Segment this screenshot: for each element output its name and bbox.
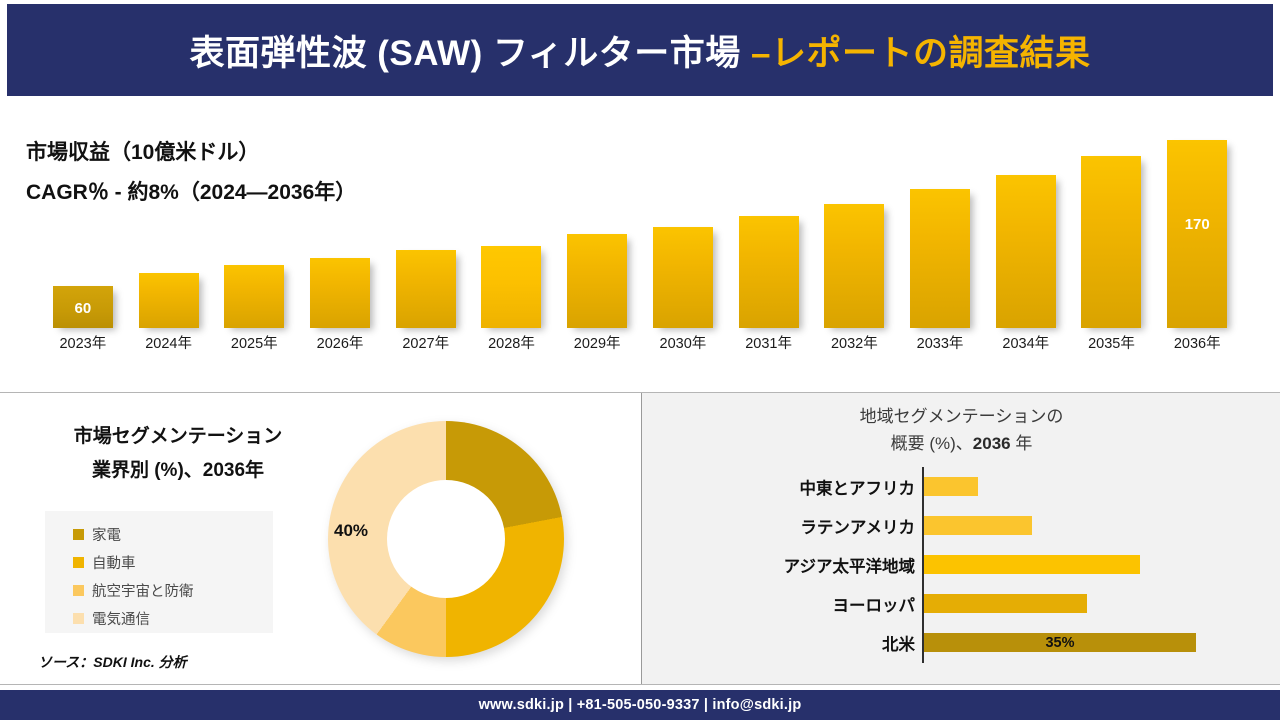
bar-2036年: 170 (1167, 140, 1227, 328)
bar-2030年 (653, 227, 713, 328)
bar-cell (983, 130, 1069, 328)
infographic-page: 表面弾性波 (SAW) フィルター市場 –レポートの調査結果 市場収益（10億米… (0, 0, 1280, 720)
legend-label: 自動車 (92, 552, 136, 573)
region-title-line2-a: 概要 (%)、 (891, 434, 973, 453)
bar-2031年 (739, 216, 799, 328)
region-label: アジア太平洋地域 (655, 553, 915, 577)
legend-swatch-icon (73, 529, 84, 540)
bar-2028年 (481, 246, 541, 328)
year-label-2034年: 2034年 (983, 332, 1069, 362)
region-row-0: 中東とアフリカ (642, 467, 1280, 506)
bar-cell (811, 130, 897, 328)
year-label-2026年: 2026年 (297, 332, 383, 362)
bar-cell: 170 (1154, 130, 1240, 328)
bar-cell (897, 130, 983, 328)
region-bar (924, 594, 1087, 613)
bar-value-label: 170 (1167, 216, 1227, 233)
header-banner: 表面弾性波 (SAW) フィルター市場 –レポートの調査結果 (7, 4, 1273, 96)
bar-cell (297, 130, 383, 328)
region-title-line2-c: 年 (1011, 434, 1033, 453)
bar-2024年 (139, 273, 199, 328)
year-label-2024年: 2024年 (126, 332, 212, 362)
year-label-2030年: 2030年 (640, 332, 726, 362)
year-label-2027年: 2027年 (383, 332, 469, 362)
bar-2033年 (910, 189, 970, 328)
bar-cell (726, 130, 812, 328)
bar-2032年 (824, 204, 884, 328)
industry-segmentation-panel: 市場セグメンテーション 業界別 (%)、2036年 家電自動車航空宇宙と防衛電気… (0, 393, 640, 684)
bar-cell (383, 130, 469, 328)
region-bar-series: 中東とアフリカラテンアメリカアジア太平洋地域ヨーロッパ北米35% (642, 467, 1280, 667)
year-label-2023年: 2023年 (40, 332, 126, 362)
source-note: ソース：SDKI Inc. 分析 (38, 652, 187, 672)
page-title-accent: –レポートの調査結果 (751, 34, 1090, 73)
legend-label: 航空宇宙と防衛 (92, 580, 194, 601)
legend-swatch-icon (73, 585, 84, 596)
bar-cell (211, 130, 297, 328)
region-chart-title: 地域セグメンテーションの 概要 (%)、2036 年 (642, 403, 1280, 457)
bar-2023年: 60 (53, 286, 113, 328)
bar-cell (554, 130, 640, 328)
footer-banner: www.sdki.jp | +81-505-050-9337 | info@sd… (0, 690, 1280, 720)
year-label-2035年: 2035年 (1069, 332, 1155, 362)
region-label: ラテンアメリカ (655, 514, 915, 538)
region-segmentation-panel: 地域セグメンテーションの 概要 (%)、2036 年 中東とアフリカラテンアメリ… (641, 393, 1280, 684)
bar-2026年 (310, 258, 370, 328)
region-row-3: ヨーロッパ (642, 584, 1280, 623)
region-title-line1: 地域セグメンテーションの (642, 403, 1280, 430)
legend-swatch-icon (73, 613, 84, 624)
legend-label: 家電 (92, 524, 121, 545)
bar-cell (640, 130, 726, 328)
page-title-main: 表面弾性波 (SAW) フィルター市場 (190, 34, 752, 73)
legend-item[interactable]: 電気通信 (73, 605, 273, 632)
region-row-2: アジア太平洋地域 (642, 545, 1280, 584)
bar-2029年 (567, 234, 627, 328)
legend-item[interactable]: 家電 (73, 521, 273, 548)
donut-hole (387, 480, 505, 598)
year-label-2031年: 2031年 (726, 332, 812, 362)
bar-category-axis: 2023年2024年2025年2026年2027年2028年2029年2030年… (40, 332, 1240, 362)
region-title-line2: 概要 (%)、2036 年 (642, 430, 1280, 457)
bar-value-label: 60 (53, 300, 113, 317)
region-bar (924, 477, 978, 496)
year-label-2025年: 2025年 (211, 332, 297, 362)
legend-item[interactable]: 航空宇宙と防衛 (73, 577, 273, 604)
region-label: 中東とアフリカ (655, 475, 915, 499)
legend-item[interactable]: 自動車 (73, 549, 273, 576)
region-bar (924, 555, 1140, 574)
donut-title-line1: 市場セグメンテーション (28, 420, 328, 454)
revenue-bar-chart: 60170 2023年2024年2025年2026年2027年2028年2029… (40, 130, 1240, 370)
region-bar (924, 516, 1032, 535)
page-title: 表面弾性波 (SAW) フィルター市場 –レポートの調査結果 (190, 25, 1091, 76)
legend-label: 電気通信 (92, 608, 150, 629)
bar-cell (1069, 130, 1155, 328)
donut-title-line2: 業界別 (%)、2036年 (28, 454, 328, 488)
bar-cell: 60 (40, 130, 126, 328)
donut-legend: 家電自動車航空宇宙と防衛電気通信 (45, 511, 273, 633)
region-title-year: 2036 (973, 434, 1011, 453)
bar-series: 60170 (40, 130, 1240, 328)
bar-cell (126, 130, 212, 328)
section-divider-bottom (0, 684, 1280, 685)
bar-2034年 (996, 175, 1056, 328)
region-row-1: ラテンアメリカ (642, 506, 1280, 545)
bar-2027年 (396, 250, 456, 328)
region-label: 北米 (655, 631, 915, 655)
legend-swatch-icon (73, 557, 84, 568)
year-label-2032年: 2032年 (811, 332, 897, 362)
donut-title: 市場セグメンテーション 業界別 (%)、2036年 (28, 420, 328, 488)
donut-center-label: 40% (306, 521, 396, 541)
region-row-4: 北米35% (642, 623, 1280, 662)
year-label-2036年: 2036年 (1154, 332, 1240, 362)
donut-chart: 40% (328, 421, 590, 683)
bar-cell (469, 130, 555, 328)
year-label-2029年: 2029年 (554, 332, 640, 362)
bar-2025年 (224, 265, 284, 328)
footer-contact: www.sdki.jp | +81-505-050-9337 | info@sd… (479, 697, 802, 713)
bar-2035年 (1081, 156, 1141, 328)
year-label-2028年: 2028年 (469, 332, 555, 362)
year-label-2033年: 2033年 (897, 332, 983, 362)
region-label: ヨーロッパ (655, 592, 915, 616)
region-value-label: 35% (924, 633, 1196, 652)
